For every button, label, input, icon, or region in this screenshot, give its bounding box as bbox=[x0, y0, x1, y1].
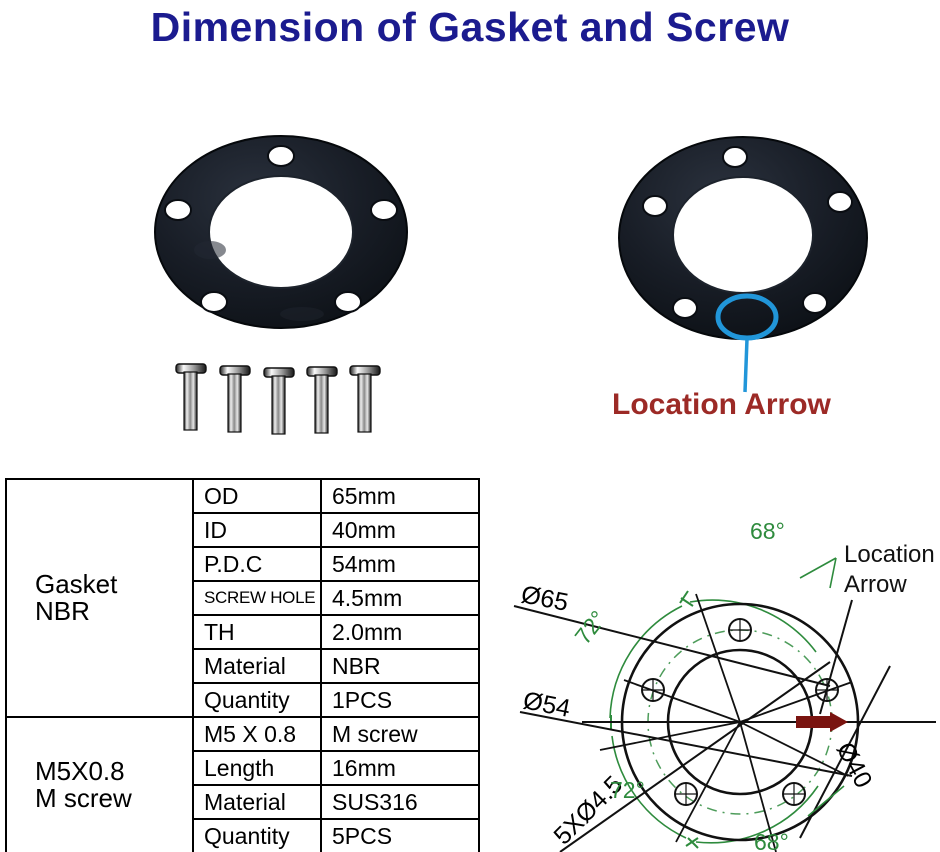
specification-table: Gasket NBR OD 65mm ID 40mm P.D.C 54mm SC… bbox=[5, 478, 480, 852]
angle-bracket-right bbox=[800, 558, 836, 578]
screw-hole-symbols bbox=[642, 619, 838, 805]
property-key: Length bbox=[193, 751, 321, 785]
property-value: 16mm bbox=[321, 751, 479, 785]
property-value: 2.0mm bbox=[321, 615, 479, 649]
location-arrow-callout-label: Location Arrow bbox=[612, 388, 831, 422]
property-key: OD bbox=[193, 479, 321, 513]
angle-bracket-right-2 bbox=[830, 558, 836, 588]
property-value: M screw bbox=[321, 717, 479, 751]
page-title: Dimension of Gasket and Screw bbox=[0, 4, 940, 51]
property-value: 54mm bbox=[321, 547, 479, 581]
screws-photo bbox=[170, 352, 390, 447]
angle-label-top-right: 68° bbox=[750, 518, 785, 544]
property-key: Material bbox=[193, 649, 321, 683]
property-key: TH bbox=[193, 615, 321, 649]
engineering-drawing: Ø65 Ø54 5XØ4.5 Ø40 72° 68° 72° 68° Locat… bbox=[500, 486, 940, 852]
drawing-location-arrow-label-line1: Location bbox=[844, 541, 935, 568]
property-value: 40mm bbox=[321, 513, 479, 547]
property-value: 4.5mm bbox=[321, 581, 479, 615]
property-value: SUS316 bbox=[321, 785, 479, 819]
property-value: 1PCS bbox=[321, 683, 479, 717]
property-key: Quantity bbox=[193, 683, 321, 717]
property-value: 65mm bbox=[321, 479, 479, 513]
gasket-photo-plain bbox=[152, 132, 410, 332]
property-key: P.D.C bbox=[193, 547, 321, 581]
product-spec-image: Dimension of Gasket and Screw bbox=[0, 0, 940, 852]
group-label-gasket: Gasket NBR bbox=[6, 479, 193, 717]
location-arrow-leader-line bbox=[745, 339, 747, 392]
property-key: SCREW HOLE bbox=[193, 581, 321, 615]
dimension-pdc-label: Ø54 bbox=[521, 686, 573, 723]
drawing-location-arrow-label-line2: Arrow bbox=[844, 571, 907, 598]
angle-bracket-bottom bbox=[808, 786, 844, 816]
property-value: 5PCS bbox=[321, 819, 479, 852]
location-arrow-marker bbox=[796, 712, 848, 732]
angle-label-bottom-left: 72° bbox=[610, 777, 645, 803]
angle-label-top-left: 72° bbox=[569, 606, 611, 649]
property-key: ID bbox=[193, 513, 321, 547]
property-value: NBR bbox=[321, 649, 479, 683]
screw-item bbox=[176, 364, 380, 434]
group-label-screw: M5X0.8 M screw bbox=[6, 717, 193, 852]
table-row: M5X0.8 M screw M5 X 0.8 M screw bbox=[6, 717, 479, 751]
property-key: Quantity bbox=[193, 819, 321, 852]
property-key: Material bbox=[193, 785, 321, 819]
table-row: Gasket NBR OD 65mm bbox=[6, 479, 479, 513]
angle-label-bottom-right: 68° bbox=[754, 829, 789, 852]
gasket-photo-annotated bbox=[615, 130, 895, 400]
property-key: M5 X 0.8 bbox=[193, 717, 321, 751]
dimension-od-label: Ø65 bbox=[519, 580, 571, 617]
